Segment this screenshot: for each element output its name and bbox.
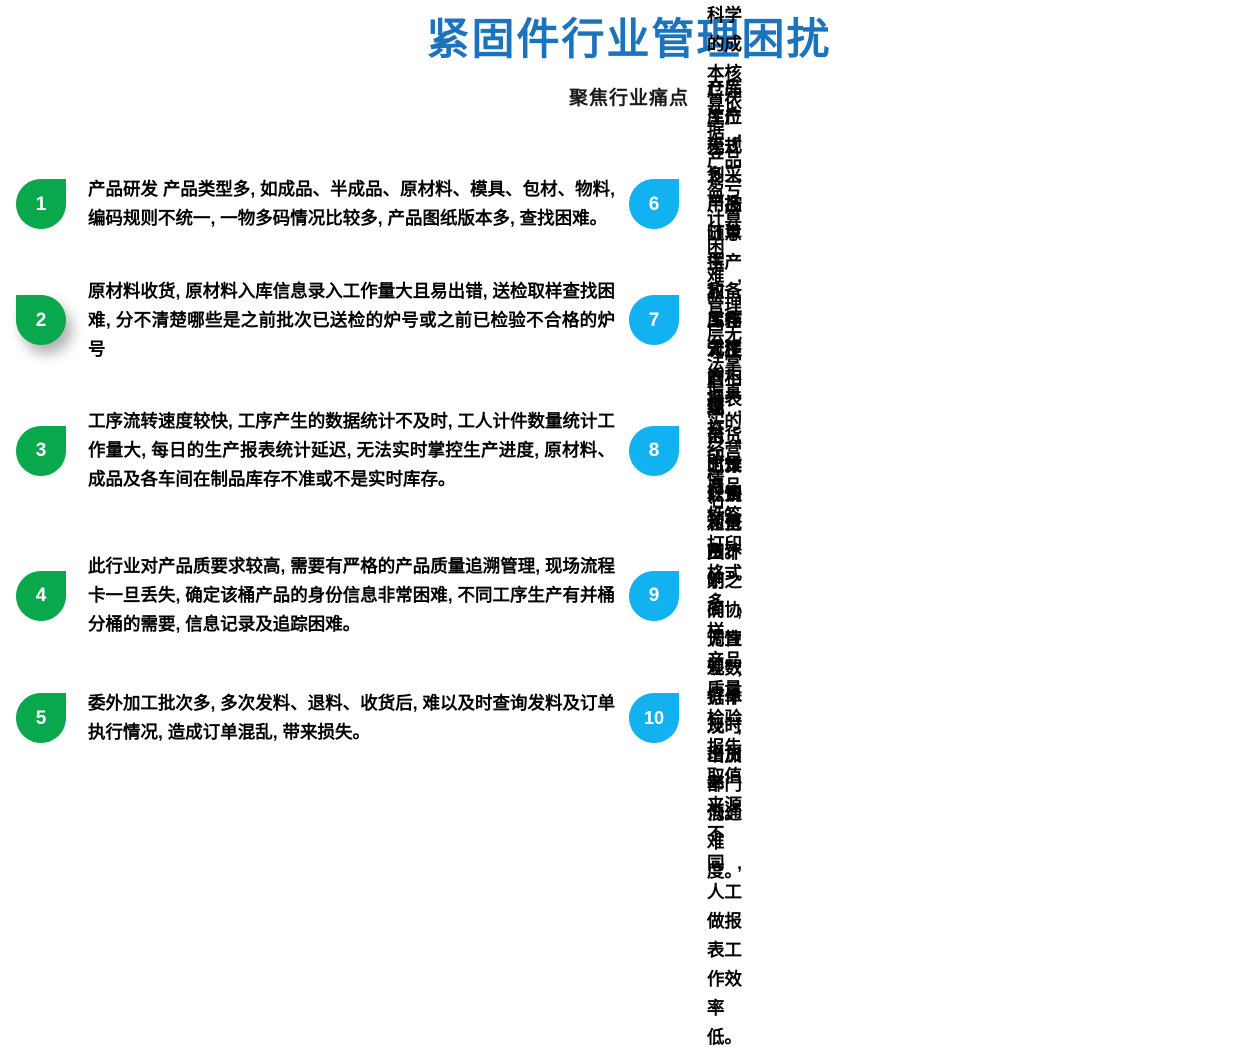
pain-point-badge-2: 2 — [16, 295, 66, 345]
pain-point-badge-6: 6 — [629, 179, 679, 229]
pain-point-badge-5: 5 — [16, 693, 66, 743]
slide-header: 紧固件行业管理困扰 聚焦行业痛点 — [0, 0, 1258, 112]
pain-point-badge-8: 8 — [629, 426, 679, 476]
pain-point-number: 8 — [649, 441, 660, 460]
pain-point-number: 9 — [649, 586, 660, 605]
pain-point-badge-7: 7 — [629, 295, 679, 345]
pain-point-badge-4: 4 — [16, 571, 66, 621]
pain-point-number: 1 — [36, 195, 47, 214]
pain-point-number: 10 — [644, 709, 664, 727]
pain-point-column-right: 6成本核算难, 没有科学的成本核算依据, 产品盈亏计算困难, 管理层无法掌握真实… — [0, 146, 643, 768]
pain-point-number: 7 — [649, 311, 660, 330]
pain-point-number: 2 — [36, 311, 47, 330]
pain-point-badge-3: 3 — [16, 426, 66, 476]
pain-point-columns: 1产品研发 产品类型多, 如成品、半成品、原材料、模具、包材、物料, 编码规则不… — [0, 146, 1258, 768]
pain-point-number: 3 — [36, 441, 47, 460]
pain-point-number: 6 — [649, 195, 660, 214]
page-subtitle: 聚焦行业痛点 — [0, 66, 1258, 112]
pain-point-number: 4 — [36, 586, 47, 605]
pain-point-number: 5 — [36, 709, 47, 728]
page-title: 紧固件行业管理困扰 — [0, 14, 1258, 66]
pain-point-badge-10: 10 — [629, 693, 679, 743]
pain-point-badge-9: 9 — [629, 571, 679, 621]
pain-point-badge-1: 1 — [16, 179, 66, 229]
pain-point-text: 报表打印、产品标签打印格式多样, 产品质量检验报告取值来源不同, 人工做报表工作… — [687, 385, 742, 1052]
slide-root: 紧固件行业管理困扰 聚焦行业痛点 1产品研发 产品类型多, 如成品、半成品、原材… — [0, 0, 1258, 743]
